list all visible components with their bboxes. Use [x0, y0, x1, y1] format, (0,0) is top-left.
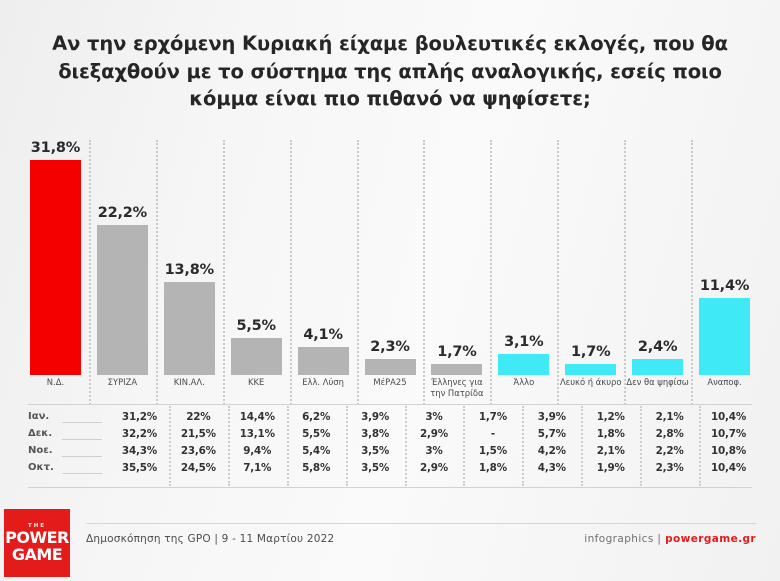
table-cell: 22%	[169, 411, 228, 423]
table-bottom-rule	[28, 487, 752, 488]
bar-5[interactable]	[298, 347, 349, 375]
bar-value-label: 22,2%	[85, 205, 160, 221]
bar-7[interactable]	[431, 364, 482, 375]
category-label: ΜέΡΑ25	[359, 377, 422, 388]
table-cell: 4,2%	[522, 445, 581, 457]
row-leader-line	[62, 473, 102, 474]
bar-column[interactable]: 1,7%	[565, 140, 616, 375]
table-row: Νοε.34,3%23,6%9,4%5,4%3,5%3%1,5%4,2%2,1%…	[22, 444, 758, 461]
bar-column[interactable]: 13,8%	[164, 140, 215, 375]
table-cell: 5,5%	[287, 428, 346, 440]
bar-value-label: 1,7%	[419, 344, 494, 360]
table-cell: 4,3%	[522, 462, 581, 474]
table-cell: 24,5%	[169, 462, 228, 474]
bar-8[interactable]	[498, 354, 549, 375]
category-label: ΚΚΕ	[225, 377, 288, 388]
table-cell: 1,5%	[463, 445, 522, 457]
credit-prefix: infographics |	[584, 533, 665, 545]
column-divider	[691, 140, 693, 405]
category-label: Δεν θα ψηφίσω	[626, 377, 689, 388]
bar-value-label: 3,1%	[486, 334, 561, 350]
table-cell: 14,4%	[228, 411, 287, 423]
column-divider	[223, 140, 225, 405]
table-cell: 2,9%	[405, 428, 464, 440]
bar-4[interactable]	[231, 338, 282, 375]
footer: THE POWER GAME Δημοσκόπηση της GPO | 9 -…	[0, 505, 780, 581]
bar-value-label: 31,8%	[18, 140, 93, 156]
table-cell: 3%	[405, 445, 464, 457]
table-cell: 3%	[405, 411, 464, 423]
table-cell: 2,1%	[581, 445, 640, 457]
table-cell: 10,4%	[699, 411, 758, 423]
table-row: Δεκ.32,2%21,5%13,1%5,5%3,8%2,9%-5,7%1,8%…	[22, 427, 758, 444]
table-cell: 35,5%	[110, 462, 169, 474]
bar-11[interactable]	[699, 298, 750, 375]
table-row-label: Ιαν.	[28, 411, 49, 422]
bar-column[interactable]: 3,1%	[498, 140, 549, 375]
table-cell: 2,3%	[640, 462, 699, 474]
powergame-logo: THE POWER GAME	[4, 509, 70, 577]
table-cell: 10,8%	[699, 445, 758, 457]
logo-game-text: GAME	[12, 547, 62, 563]
bar-9[interactable]	[565, 364, 616, 375]
table-cell: 1,7%	[463, 411, 522, 423]
table-cell: 5,4%	[287, 445, 346, 457]
table-cell: 23,6%	[169, 445, 228, 457]
table-row-label: Οκτ.	[28, 462, 54, 473]
row-leader-line	[62, 422, 102, 423]
history-table: Ιαν.31,2%22%14,4%6,2%3,9%3%1,7%3,9%1,2%2…	[22, 404, 758, 488]
column-divider	[557, 140, 559, 405]
table-cell: 2,9%	[405, 462, 464, 474]
table-cell: 1,2%	[581, 411, 640, 423]
bar-column[interactable]: 11,4%	[699, 140, 750, 375]
table-cell: 34,3%	[110, 445, 169, 457]
row-leader-line	[62, 439, 102, 440]
table-cell: 3,5%	[346, 445, 405, 457]
column-divider	[89, 140, 91, 405]
bar-6[interactable]	[365, 359, 416, 375]
table-row-label: Δεκ.	[28, 428, 52, 439]
category-label: Ν.Δ.	[24, 377, 87, 388]
column-divider	[357, 140, 359, 405]
credit-note: infographics | powergame.gr	[584, 533, 756, 545]
bar-value-label: 2,3%	[353, 339, 428, 355]
bar-value-label: 4,1%	[286, 327, 361, 343]
table-cell: 31,2%	[110, 411, 169, 423]
column-divider	[490, 140, 492, 405]
bar-value-label: 11,4%	[687, 278, 762, 294]
table-top-rule	[28, 404, 752, 405]
bar-column[interactable]: 5,5%	[231, 140, 282, 375]
category-label: Άλλο	[492, 377, 555, 388]
table-cell: 9,4%	[228, 445, 287, 457]
bar-chart: 31,8%22,2%13,8%5,5%4,1%2,3%1,7%3,1%1,7%2…	[22, 140, 758, 375]
bar-column[interactable]: 22,2%	[97, 140, 148, 375]
table-cell: 7,1%	[228, 462, 287, 474]
table-cell: -	[463, 428, 522, 440]
table-cell: 5,7%	[522, 428, 581, 440]
category-label: Ελλ. Λύση	[292, 377, 355, 388]
table-cell: 2,8%	[640, 428, 699, 440]
table-row-label: Νοε.	[28, 445, 53, 456]
table-cell: 1,8%	[581, 428, 640, 440]
table-cell: 1,8%	[463, 462, 522, 474]
bar-column[interactable]: 31,8%	[30, 140, 81, 375]
table-cell: 3,5%	[346, 462, 405, 474]
bar-value-label: 1,7%	[553, 344, 628, 360]
table-cell: 10,4%	[699, 462, 758, 474]
footer-rule	[86, 523, 756, 524]
category-label: Αναποφ.	[693, 377, 756, 388]
infographic-root: Αν την ερχόμενη Κυριακή είχαμε βουλευτικ…	[0, 0, 780, 581]
category-axis-labels: Ν.Δ.ΣΥΡΙΖΑΚΙΝ.ΑΛ.ΚΚΕΕλλ. ΛύσηΜέΡΑ25Έλλην…	[22, 377, 758, 403]
bar-3[interactable]	[164, 282, 215, 375]
category-label: ΚΙΝ.ΑΛ.	[158, 377, 221, 388]
bar-column[interactable]: 2,4%	[632, 140, 683, 375]
category-label: ΣΥΡΙΖΑ	[91, 377, 154, 388]
bar-2[interactable]	[97, 225, 148, 375]
bar-column[interactable]: 1,7%	[431, 140, 482, 375]
table-row: Ιαν.31,2%22%14,4%6,2%3,9%3%1,7%3,9%1,2%2…	[22, 410, 758, 427]
table-cell: 10,7%	[699, 428, 758, 440]
bar-1[interactable]	[30, 160, 81, 375]
bar-value-label: 13,8%	[152, 262, 227, 278]
column-divider	[624, 140, 626, 405]
page-title: Αν την ερχόμενη Κυριακή είχαμε βουλευτικ…	[30, 30, 750, 113]
bar-value-label: 5,5%	[219, 318, 294, 334]
table-cell: 3,9%	[346, 411, 405, 423]
credit-site-link[interactable]: powergame.gr	[665, 533, 756, 545]
row-leader-line	[62, 456, 102, 457]
title-block: Αν την ερχόμενη Κυριακή είχαμε βουλευτικ…	[30, 30, 750, 113]
column-divider	[290, 140, 292, 405]
table-cell: 1,9%	[581, 462, 640, 474]
column-divider	[156, 140, 158, 405]
table-cell: 13,1%	[228, 428, 287, 440]
table-cell: 6,2%	[287, 411, 346, 423]
table-cell: 2,2%	[640, 445, 699, 457]
column-divider	[423, 140, 425, 405]
category-label: Έλληνες για την Πατρίδα	[425, 377, 488, 398]
table-cell: 3,8%	[346, 428, 405, 440]
table-row: Οκτ.35,5%24,5%7,1%5,8%3,5%2,9%1,8%4,3%1,…	[22, 461, 758, 478]
table-cell: 3,9%	[522, 411, 581, 423]
bar-value-label: 2,4%	[620, 339, 695, 355]
logo-the-text: THE	[28, 523, 46, 529]
category-label: Λευκό ή άκυρο	[559, 377, 622, 388]
table-cell: 21,5%	[169, 428, 228, 440]
bar-column[interactable]: 4,1%	[298, 140, 349, 375]
bar-column[interactable]: 2,3%	[365, 140, 416, 375]
table-cell: 2,1%	[640, 411, 699, 423]
bar-10[interactable]	[632, 359, 683, 375]
source-note: Δημοσκόπηση της GPO | 9 - 11 Μαρτίου 202…	[86, 533, 334, 545]
table-cell: 32,2%	[110, 428, 169, 440]
table-cell: 5,8%	[287, 462, 346, 474]
